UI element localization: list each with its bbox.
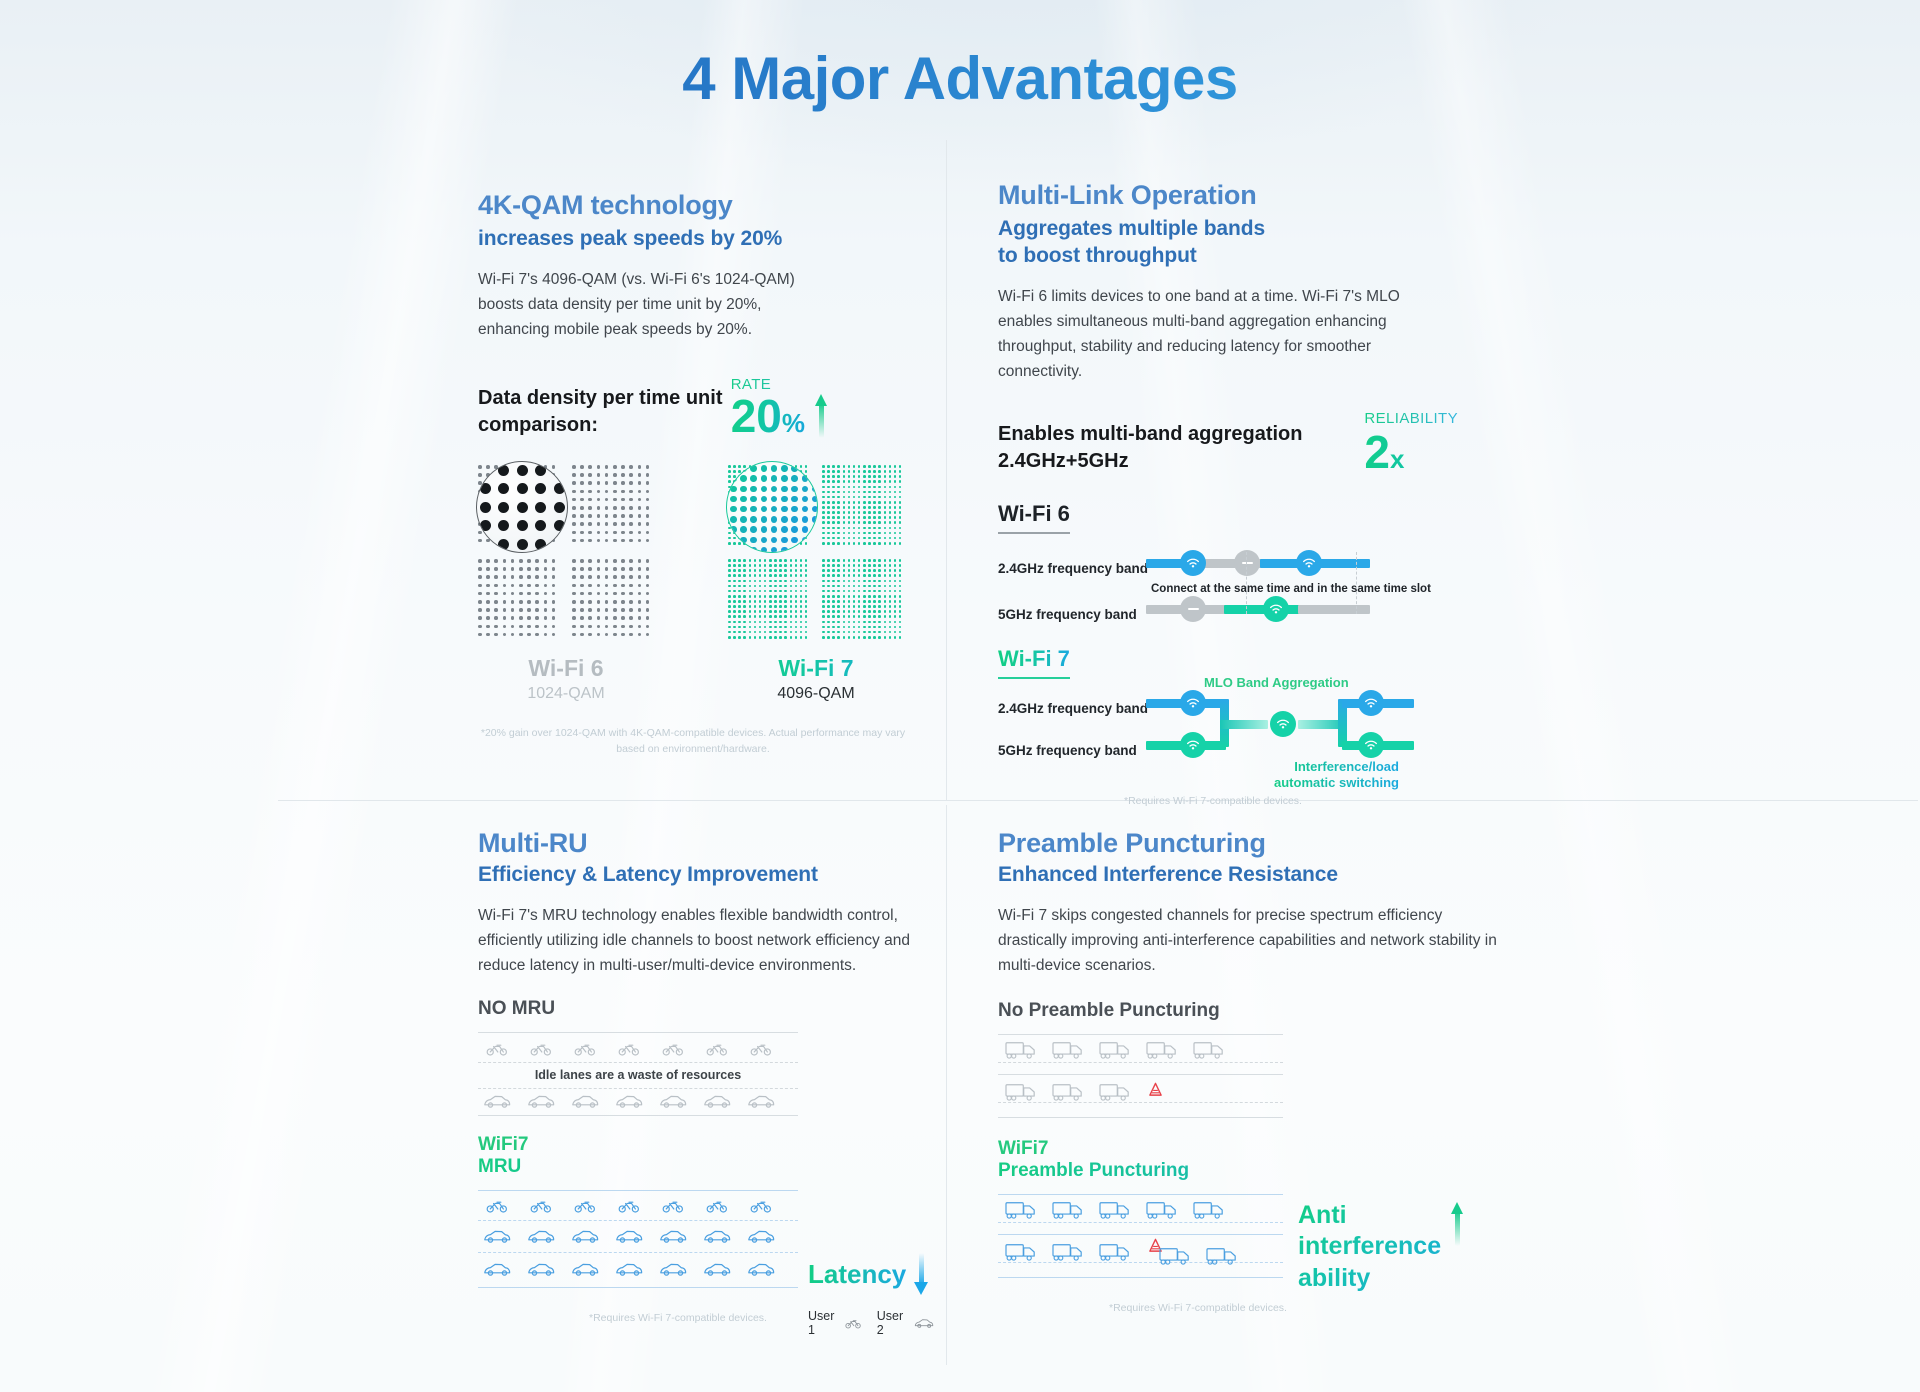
motorcycle-icon bbox=[574, 1042, 596, 1056]
lane-vehicle bbox=[615, 1094, 643, 1113]
divider-vertical-bottom bbox=[946, 805, 947, 1365]
lane-vehicle bbox=[750, 1199, 772, 1218]
lane-truck bbox=[1145, 1200, 1179, 1225]
mru-subheading: Efficiency & Latency Improvement bbox=[478, 862, 918, 889]
hazard-icon bbox=[1148, 1082, 1163, 1097]
lane-vehicle bbox=[486, 1042, 508, 1061]
wifi7-switch-note-1: Interference/load bbox=[1274, 759, 1399, 775]
truck-icon bbox=[1205, 1246, 1239, 1266]
truck-icon bbox=[1098, 1242, 1132, 1262]
mlo-subheading-2: to boost throughput bbox=[998, 243, 1468, 270]
wifi-node-icon bbox=[1358, 732, 1384, 758]
qam-heading: 4K-QAM technology bbox=[478, 190, 908, 222]
lane-vehicle bbox=[483, 1262, 511, 1281]
motorcycle-icon bbox=[574, 1199, 596, 1213]
lane-truck bbox=[1098, 1040, 1132, 1065]
lane-vehicle bbox=[530, 1042, 552, 1061]
car-icon bbox=[527, 1094, 555, 1108]
magnifier-lens bbox=[476, 461, 568, 553]
car-icon bbox=[571, 1094, 599, 1108]
motorcycle-icon bbox=[845, 1317, 861, 1330]
truck-icon bbox=[1051, 1200, 1085, 1220]
wifi-node-icon bbox=[1270, 711, 1296, 737]
car-icon bbox=[527, 1262, 555, 1276]
lane-vehicle bbox=[747, 1094, 775, 1113]
qam-footnote: *20% gain over 1024-QAM with 4K-QAM-comp… bbox=[478, 725, 908, 758]
qam-body: Wi-Fi 7's 4096-QAM (vs. Wi-Fi 6's 1024-Q… bbox=[478, 267, 814, 342]
anti-label-line3: ability bbox=[1298, 1263, 1441, 1294]
lane-vehicle bbox=[618, 1042, 640, 1061]
motorcycle-icon bbox=[486, 1199, 508, 1213]
qam-sublabel-wifi6: 1024-QAM bbox=[478, 685, 654, 703]
mlo-subheading-1: Aggregates multiple bands bbox=[998, 216, 1468, 243]
mlo-stat-label: Enables multi-band aggregation 2.4GHz+5G… bbox=[998, 421, 1302, 475]
wifi-node-icon bbox=[1296, 550, 1322, 576]
infographic-page: 4 Major Advantages 4K-QAM technology inc… bbox=[0, 0, 1920, 1392]
motorcycle-icon bbox=[486, 1042, 508, 1056]
lane-vehicle bbox=[662, 1199, 684, 1218]
pp-label-line2: Preamble Puncturing bbox=[998, 1160, 1498, 1182]
divider-vertical-top bbox=[946, 140, 947, 800]
lane-truck bbox=[1098, 1242, 1132, 1267]
wifi-node-icon bbox=[1180, 550, 1206, 576]
lane-truck bbox=[1145, 1040, 1179, 1065]
panel-multi-ru: Multi-RU Efficiency & Latency Improvemen… bbox=[478, 828, 918, 1326]
car-icon bbox=[659, 1094, 687, 1108]
car-icon bbox=[659, 1262, 687, 1276]
lane-vehicle bbox=[486, 1199, 508, 1218]
qam-quadrant bbox=[572, 559, 654, 641]
car-icon bbox=[571, 1229, 599, 1243]
lane-truck bbox=[1051, 1200, 1085, 1225]
lane-vehicle bbox=[571, 1262, 599, 1281]
motorcycle-icon bbox=[662, 1199, 684, 1213]
motorcycle-icon bbox=[706, 1042, 728, 1056]
mlo-reliability-stat: RELIABILITY 2x bbox=[1364, 410, 1458, 475]
wifi7-diagram: Wi-Fi 7 2.4GHz frequency band 5GHz frequ… bbox=[998, 646, 1468, 785]
idle-node-icon bbox=[1180, 596, 1206, 622]
mlo-reliability-caption: RELIABILITY bbox=[1364, 410, 1458, 427]
mru-label: WiFi7 MRU bbox=[478, 1134, 918, 1178]
wifi7-band-24-label: 2.4GHz frequency band bbox=[998, 701, 1148, 716]
truck-icon bbox=[1098, 1082, 1132, 1102]
panel-multi-link-operation: Multi-Link Operation Aggregates multiple… bbox=[998, 180, 1468, 809]
qam-column-wifi6: Wi-Fi 6 1024-QAM bbox=[478, 465, 654, 703]
lane-vehicle bbox=[703, 1229, 731, 1248]
wifi-node-icon bbox=[1263, 596, 1289, 622]
lane-truck bbox=[1051, 1082, 1085, 1107]
lane-truck bbox=[1004, 1200, 1038, 1225]
mru-label-line2: MRU bbox=[478, 1156, 918, 1178]
car-icon bbox=[914, 1317, 934, 1329]
car-icon bbox=[747, 1094, 775, 1108]
qam-sublabel-wifi7: 4096-QAM bbox=[728, 685, 904, 703]
truck-icon bbox=[1158, 1246, 1192, 1266]
pp-subheading: Enhanced Interference Resistance bbox=[998, 862, 1498, 889]
car-icon bbox=[747, 1229, 775, 1243]
car-icon bbox=[483, 1262, 511, 1276]
mlo-stat-label-2: 2.4GHz+5GHz bbox=[998, 448, 1302, 475]
lane-vehicle bbox=[574, 1042, 596, 1061]
arrow-up-icon bbox=[815, 394, 828, 438]
background-light-streaks bbox=[0, 0, 1920, 1392]
lane-vehicle bbox=[615, 1262, 643, 1281]
panel-preamble-puncturing: Preamble Puncturing Enhanced Interferenc… bbox=[998, 828, 1498, 1316]
hazard-marker bbox=[1148, 1082, 1163, 1102]
lane-vehicle bbox=[659, 1262, 687, 1281]
truck-icon bbox=[1192, 1040, 1226, 1060]
mru-label-line1: WiFi7 bbox=[478, 1134, 918, 1156]
lane-vehicle bbox=[618, 1199, 640, 1218]
car-icon bbox=[747, 1262, 775, 1276]
wifi7-diagram-title: Wi-Fi 7 bbox=[998, 646, 1070, 679]
no-pp-label: No Preamble Puncturing bbox=[998, 1000, 1498, 1022]
motorcycle-icon bbox=[750, 1042, 772, 1056]
mru-heading: Multi-RU bbox=[478, 828, 918, 860]
truck-icon bbox=[1004, 1200, 1038, 1220]
lane-vehicle bbox=[703, 1262, 731, 1281]
lane-truck bbox=[1051, 1242, 1085, 1267]
qam-column-wifi7: Wi-Fi 7 4096-QAM bbox=[728, 465, 904, 703]
lane-vehicle bbox=[483, 1229, 511, 1248]
wifi7-band-5-label: 5GHz frequency band bbox=[998, 743, 1137, 758]
lane-truck bbox=[1004, 1242, 1038, 1267]
qam-quadrant bbox=[822, 465, 904, 547]
qam-label-wifi7: Wi-Fi 7 bbox=[728, 655, 904, 682]
qam-quadrant bbox=[728, 559, 810, 641]
anti-interference-indicator: Anti interference ability bbox=[1298, 1200, 1464, 1294]
motorcycle-icon bbox=[530, 1042, 552, 1056]
lane-vehicle bbox=[703, 1094, 731, 1113]
truck-icon bbox=[1098, 1040, 1132, 1060]
legend-user2-label: User 2 bbox=[877, 1309, 907, 1337]
lane-truck bbox=[1004, 1040, 1038, 1065]
lane-vehicle bbox=[527, 1094, 555, 1113]
page-title: 4 Major Advantages bbox=[0, 44, 1920, 113]
car-icon bbox=[659, 1229, 687, 1243]
motorcycle-icon bbox=[662, 1042, 684, 1056]
lane-truck bbox=[1004, 1082, 1038, 1107]
arrow-down-icon bbox=[914, 1253, 929, 1295]
truck-icon bbox=[1051, 1082, 1085, 1102]
lane-vehicle bbox=[659, 1229, 687, 1248]
lane-truck bbox=[1158, 1246, 1192, 1271]
lane-truck bbox=[1051, 1040, 1085, 1065]
latency-label: Latency bbox=[808, 1259, 906, 1290]
mlo-reliability-unit: x bbox=[1390, 444, 1404, 474]
pp-heading: Preamble Puncturing bbox=[998, 828, 1498, 860]
lane-truck bbox=[1192, 1200, 1226, 1225]
panel-4k-qam: 4K-QAM technology increases peak speeds … bbox=[478, 190, 908, 758]
wifi-node-icon bbox=[1180, 690, 1206, 716]
wifi7-switch-note-2: automatic switching bbox=[1274, 775, 1399, 791]
lane-vehicle bbox=[615, 1229, 643, 1248]
qam-stat-label: Data density per time unit comparison: bbox=[478, 385, 731, 439]
legend-user1-label: User 1 bbox=[808, 1309, 838, 1337]
car-icon bbox=[483, 1229, 511, 1243]
lane-truck bbox=[1098, 1200, 1132, 1225]
car-icon bbox=[571, 1262, 599, 1276]
car-icon bbox=[703, 1094, 731, 1108]
motorcycle-icon bbox=[618, 1042, 640, 1056]
motorcycle-icon bbox=[618, 1199, 640, 1213]
lane-vehicle bbox=[659, 1094, 687, 1113]
car-icon bbox=[615, 1094, 643, 1108]
truck-icon bbox=[1051, 1040, 1085, 1060]
lane-vehicle bbox=[574, 1199, 596, 1218]
mru-legend: User 1 User 2 bbox=[808, 1309, 934, 1337]
mlo-footnote: *Requires Wi-Fi 7-compatible devices. bbox=[998, 793, 1428, 809]
anti-label-line2: interference bbox=[1298, 1231, 1441, 1262]
anti-label-line1: Anti bbox=[1298, 1200, 1441, 1231]
car-icon bbox=[703, 1229, 731, 1243]
idle-lanes-note: Idle lanes are a waste of resources bbox=[478, 1068, 798, 1082]
mru-lane-diagram bbox=[478, 1190, 798, 1290]
lane-vehicle bbox=[750, 1042, 772, 1061]
qam-quadrant bbox=[572, 465, 654, 547]
wifi6-diagram: Wi-Fi 6 2.4GHz frequency band 5GHz frequ… bbox=[998, 501, 1468, 626]
qam-grid-wifi6 bbox=[478, 465, 654, 641]
qam-rate-value: 20 bbox=[731, 390, 782, 442]
mlo-reliability-value: 2 bbox=[1364, 426, 1390, 478]
car-icon bbox=[527, 1229, 555, 1243]
mru-body: Wi-Fi 7's MRU technology enables flexibl… bbox=[478, 903, 918, 978]
lane-vehicle bbox=[706, 1042, 728, 1061]
pp-body: Wi-Fi 7 skips congested channels for pre… bbox=[998, 903, 1498, 978]
pp-label: WiFi7 Preamble Puncturing bbox=[998, 1138, 1498, 1182]
wifi6-time-slot-note: Connect at the same time and in the same… bbox=[1151, 583, 1431, 595]
wifi6-diagram-title: Wi-Fi 6 bbox=[998, 501, 1070, 534]
latency-indicator: Latency User 1 User 2 bbox=[808, 1253, 934, 1337]
truck-icon bbox=[1098, 1200, 1132, 1220]
lane-vehicle bbox=[747, 1229, 775, 1248]
wifi6-band-5-label: 5GHz frequency band bbox=[998, 607, 1137, 622]
no-mru-lane-diagram: Idle lanes are a waste of resources bbox=[478, 1032, 798, 1116]
truck-icon bbox=[1192, 1200, 1226, 1220]
lane-vehicle bbox=[483, 1094, 511, 1113]
no-pp-lane-diagram bbox=[998, 1034, 1283, 1118]
lane-vehicle bbox=[747, 1262, 775, 1281]
truck-icon bbox=[1145, 1040, 1179, 1060]
motorcycle-icon bbox=[750, 1199, 772, 1213]
lane-vehicle bbox=[706, 1199, 728, 1218]
lane-vehicle bbox=[571, 1229, 599, 1248]
motorcycle-icon bbox=[706, 1199, 728, 1213]
wifi-node-icon bbox=[1358, 690, 1384, 716]
qam-rate-stat: RATE 20% bbox=[731, 376, 828, 439]
magnifier-lens bbox=[726, 461, 818, 553]
qam-rate-unit: % bbox=[782, 408, 805, 438]
truck-icon bbox=[1145, 1200, 1179, 1220]
qam-label-wifi6: Wi-Fi 6 bbox=[478, 655, 654, 682]
car-icon bbox=[483, 1094, 511, 1108]
qam-comparison: Wi-Fi 6 1024-QAM Wi-Fi 7 4096-QAM bbox=[478, 465, 908, 703]
qam-quadrant bbox=[822, 559, 904, 641]
qam-subheading: increases peak speeds by 20% bbox=[478, 226, 908, 253]
pp-footnote: *Requires Wi-Fi 7-compatible devices. bbox=[998, 1300, 1398, 1316]
lane-vehicle bbox=[662, 1042, 684, 1061]
wifi-node-icon bbox=[1180, 732, 1206, 758]
car-icon bbox=[615, 1229, 643, 1243]
mlo-body: Wi-Fi 6 limits devices to one band at a … bbox=[998, 284, 1428, 384]
pp-label-line1: WiFi7 bbox=[998, 1138, 1498, 1160]
wifi7-mlo-note: MLO Band Aggregation bbox=[1204, 675, 1349, 690]
idle-node-icon bbox=[1234, 550, 1260, 576]
car-icon bbox=[703, 1262, 731, 1276]
lane-vehicle bbox=[530, 1199, 552, 1218]
car-icon bbox=[615, 1262, 643, 1276]
mlo-stat-label-1: Enables multi-band aggregation bbox=[998, 421, 1302, 448]
lane-truck bbox=[1098, 1082, 1132, 1107]
lane-vehicle bbox=[571, 1094, 599, 1113]
truck-icon bbox=[1004, 1082, 1038, 1102]
truck-icon bbox=[1051, 1242, 1085, 1262]
mlo-heading: Multi-Link Operation bbox=[998, 180, 1468, 212]
lane-vehicle bbox=[527, 1229, 555, 1248]
pp-lane-diagram bbox=[998, 1194, 1283, 1278]
lane-truck bbox=[1205, 1246, 1239, 1271]
arrow-up-icon bbox=[1451, 1202, 1464, 1246]
lane-vehicle bbox=[527, 1262, 555, 1281]
wifi6-band-24-label: 2.4GHz frequency band bbox=[998, 561, 1148, 576]
qam-quadrant bbox=[478, 559, 560, 641]
lane-truck bbox=[1192, 1040, 1226, 1065]
qam-grid-wifi7 bbox=[728, 465, 904, 641]
truck-icon bbox=[1004, 1242, 1038, 1262]
no-mru-label: NO MRU bbox=[478, 998, 918, 1020]
truck-icon bbox=[1004, 1040, 1038, 1060]
motorcycle-icon bbox=[530, 1199, 552, 1213]
